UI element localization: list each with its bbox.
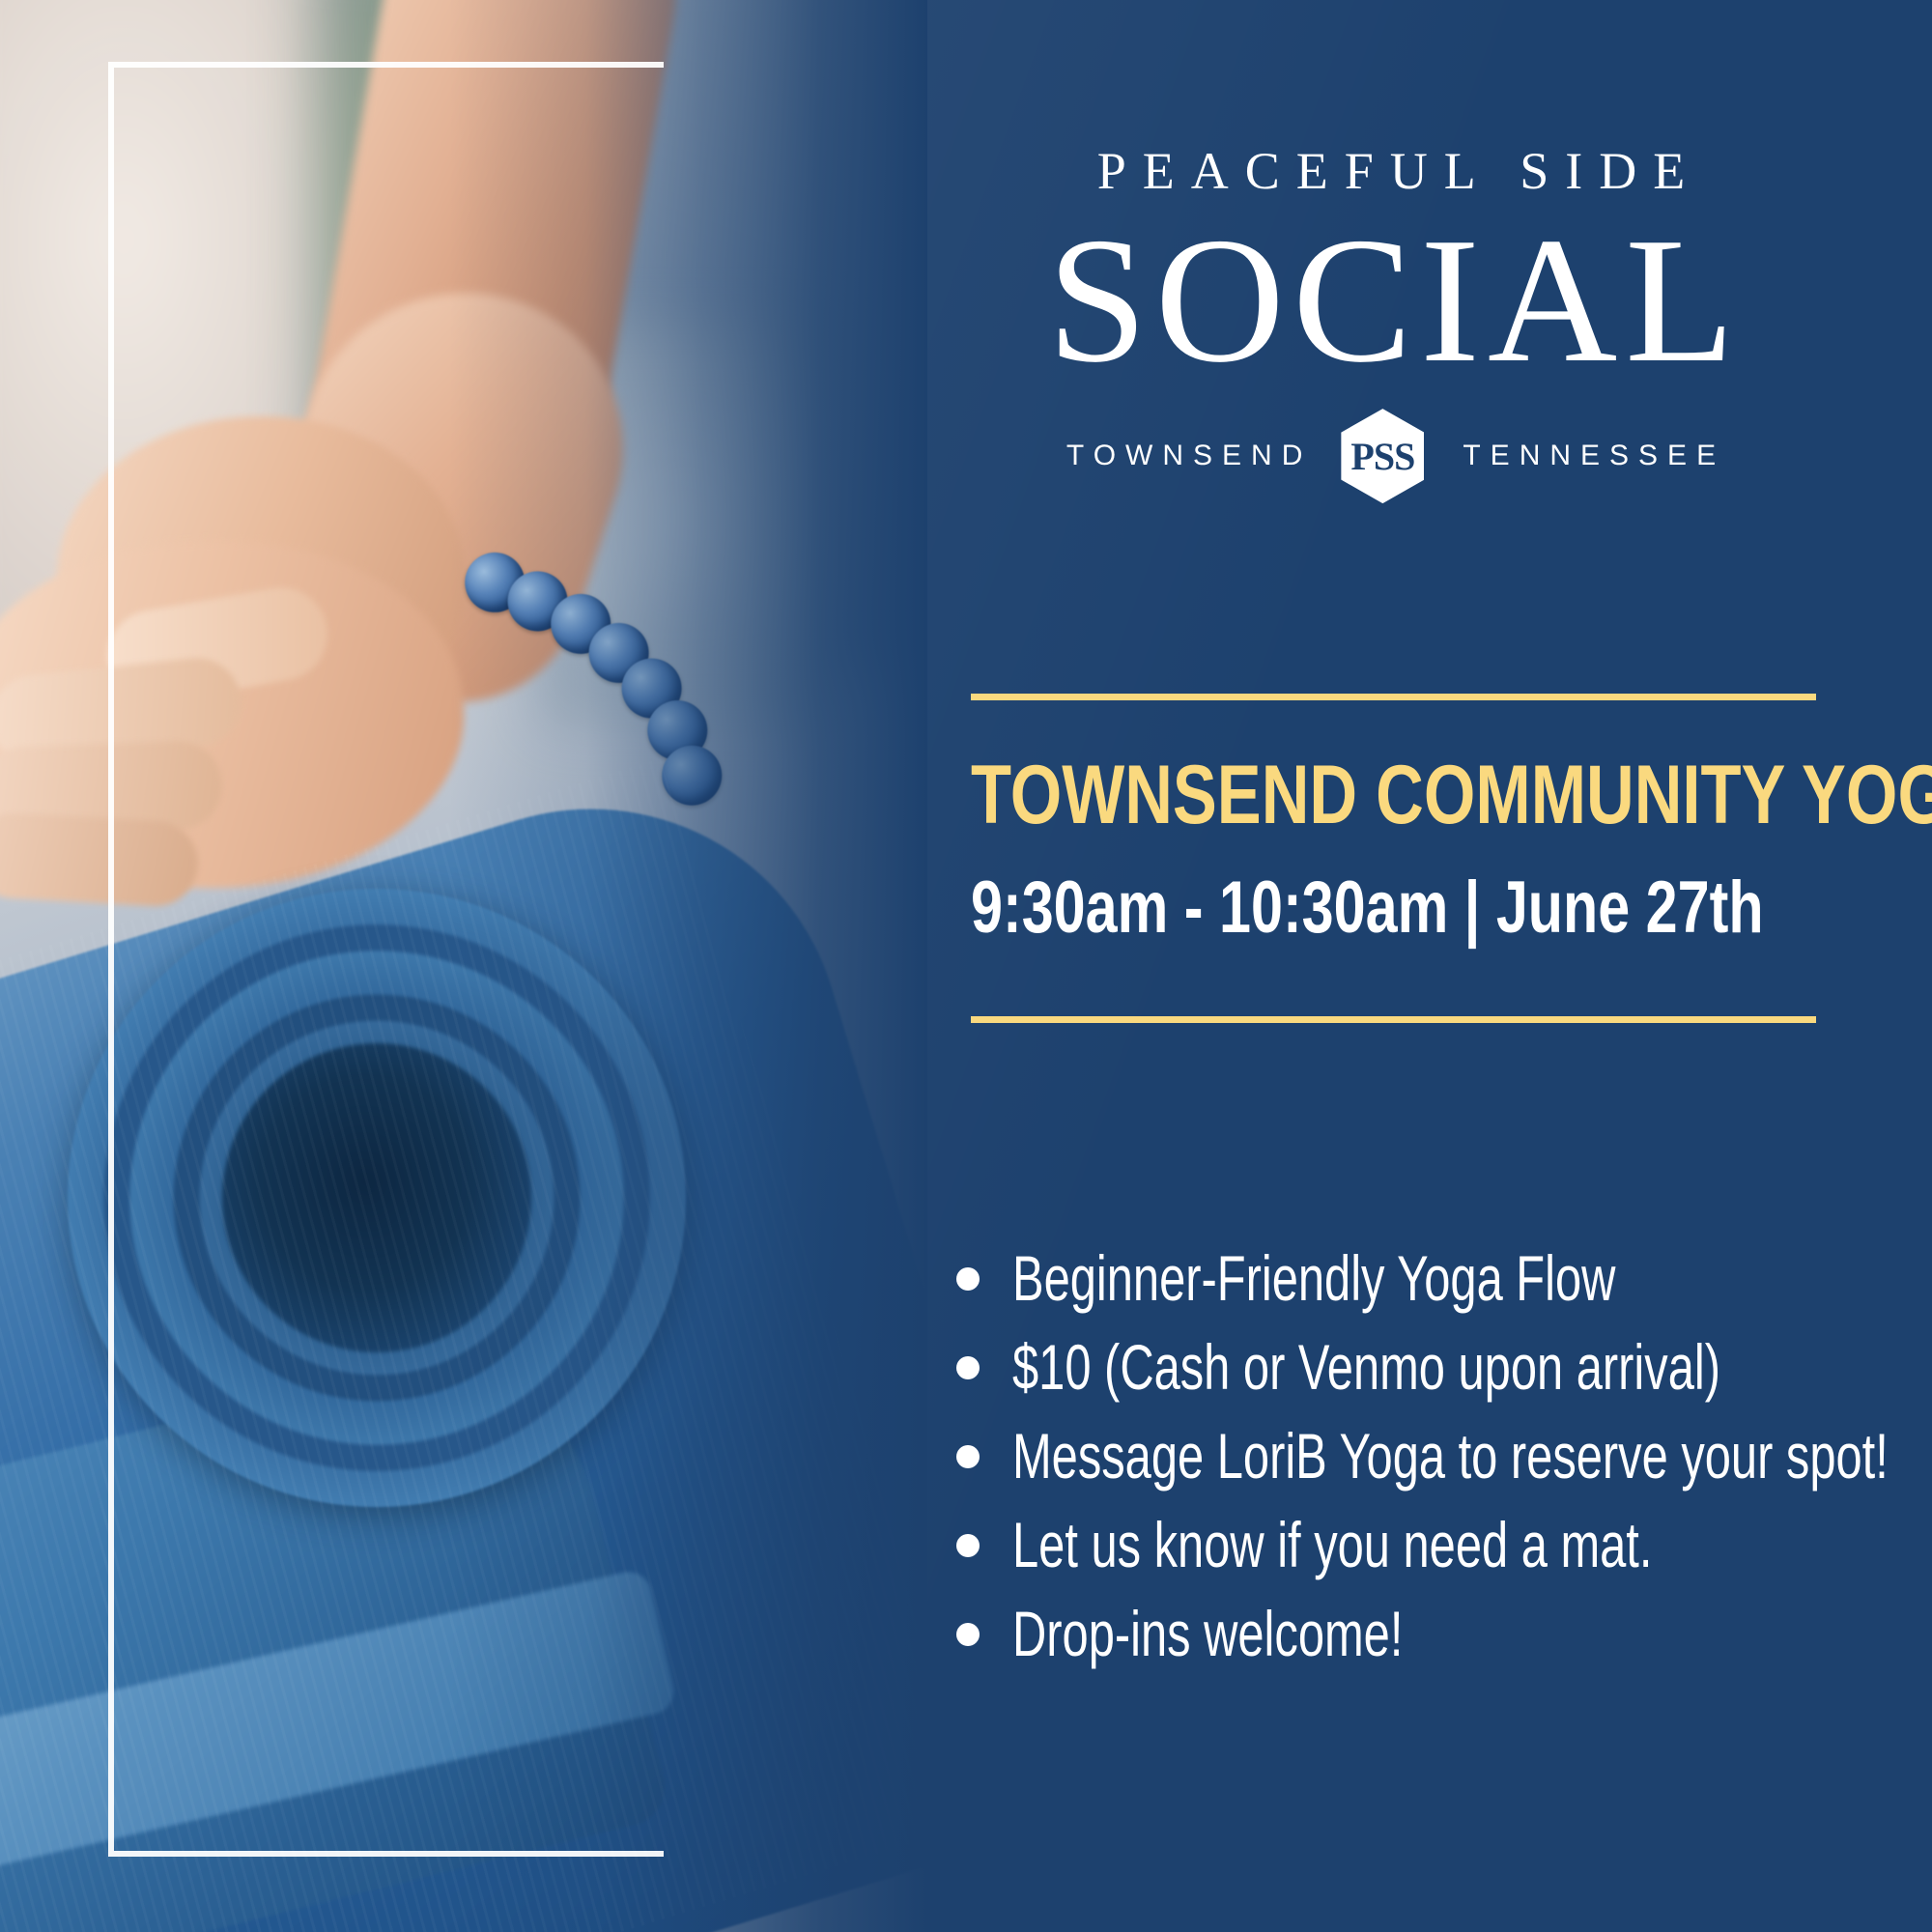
brand-logo: PEACEFUL SIDE SOCIAL TOWNSEND PSS TENNES… — [966, 145, 1816, 503]
list-item: Message LoriB Yoga to reserve your spot! — [956, 1424, 1903, 1488]
list-item: $10 (Cash or Venmo upon arrival) — [956, 1335, 1903, 1399]
hexagon-badge-icon: PSS — [1341, 409, 1424, 503]
list-item-label: Message LoriB Yoga to reserve your spot! — [1012, 1424, 1889, 1488]
badge-monogram: PSS — [1350, 438, 1414, 476]
gold-rule-bottom — [971, 1016, 1816, 1023]
event-title: TOWNSEND COMMUNITY YOGA — [971, 753, 1666, 837]
list-item-label: Drop-ins welcome! — [1012, 1602, 1403, 1665]
list-item: Drop-ins welcome! — [956, 1602, 1903, 1665]
list-item: Beginner-Friendly Yoga Flow — [956, 1246, 1903, 1310]
photo-gradient-fade — [0, 0, 976, 1932]
flyer-canvas: PEACEFUL SIDE SOCIAL TOWNSEND PSS TENNES… — [0, 0, 1932, 1932]
list-item-label: Let us know if you need a mat. — [1012, 1513, 1652, 1577]
brand-city: TOWNSEND — [1057, 440, 1312, 472]
bullet-dot-icon — [956, 1356, 980, 1379]
brand-state: TENNESSEE — [1453, 440, 1725, 472]
brand-location-row: TOWNSEND PSS TENNESSEE — [966, 409, 1816, 503]
event-details-list: Beginner-Friendly Yoga Flow $10 (Cash or… — [956, 1246, 1903, 1690]
event-block: TOWNSEND COMMUNITY YOGA 9:30am - 10:30am… — [971, 753, 1840, 945]
bullet-dot-icon — [956, 1534, 980, 1557]
bullet-dot-icon — [956, 1623, 980, 1646]
bullet-dot-icon — [956, 1445, 980, 1468]
event-time-date: 9:30am - 10:30am | June 27th — [971, 871, 1649, 945]
list-item-label: Beginner-Friendly Yoga Flow — [1012, 1246, 1615, 1310]
list-item-label: $10 (Cash or Venmo upon arrival) — [1012, 1335, 1720, 1399]
yoga-mat-photo — [0, 0, 976, 1932]
gold-rule-top — [971, 694, 1816, 700]
list-item: Let us know if you need a mat. — [956, 1513, 1903, 1577]
brand-main-line: SOCIAL — [966, 218, 1816, 384]
brand-top-line: PEACEFUL SIDE — [966, 145, 1816, 197]
bullet-dot-icon — [956, 1267, 980, 1291]
